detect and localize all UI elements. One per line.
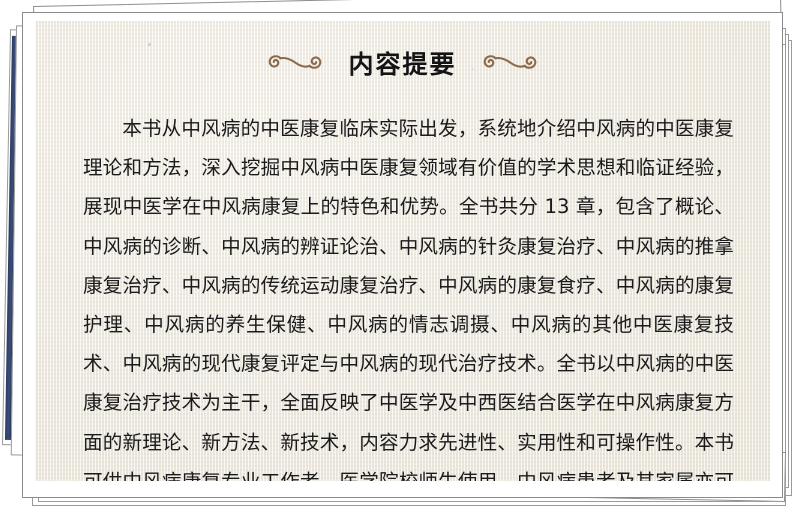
paper-surface: 内容提要 本书从中风病的中医康复临床实际出发，系统地介绍中风病的中医康复理论和方… [35, 21, 770, 481]
abstract-body: 本书从中风病的中医康复临床实际出发，系统地介绍中风病的中医康复理论和方法，深入挖… [83, 109, 734, 481]
flourish-swirl-ornament-right-icon [483, 51, 537, 77]
section-heading: 内容提要 [35, 51, 770, 77]
page-title: 内容提要 [348, 52, 456, 77]
paper-speck [148, 43, 151, 46]
paper-speck [741, 217, 743, 219]
abstract-paragraph: 本书从中风病的中医康复临床实际出发，系统地介绍中风病的中医康复理论和方法，深入挖… [83, 109, 734, 481]
front-page-sheet: 内容提要 本书从中风病的中医康复临床实际出发，系统地介绍中风病的中医康复理论和方… [22, 12, 783, 498]
flourish-swirl-ornament-left-icon [268, 51, 322, 77]
screenshot-canvas: 内容提要 本书从中风病的中医康复临床实际出发，系统地介绍中风病的中医康复理论和方… [0, 0, 800, 511]
